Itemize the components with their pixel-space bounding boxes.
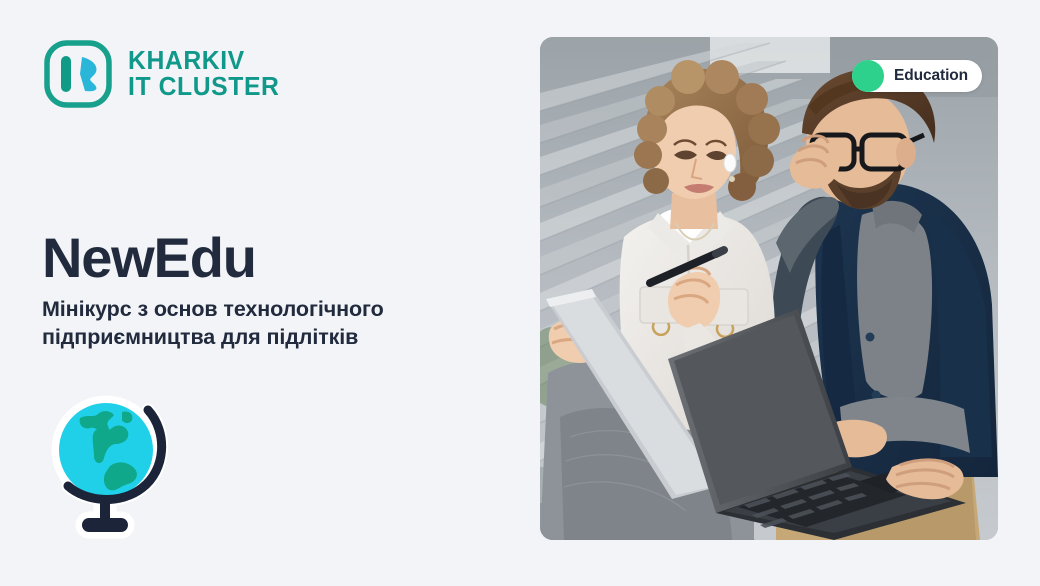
- brand-logo-wordmark: KHARKIV IT CLUSTER: [128, 48, 284, 100]
- slide-canvas: KHARKIV IT CLUSTER NewEdu Мінікурс з осн…: [0, 0, 1040, 586]
- badge-dot-icon: [852, 60, 884, 92]
- globe-sticker: [36, 388, 196, 543]
- brand-line-1: KHARKIV: [128, 48, 279, 74]
- page-title: NewEdu: [42, 228, 492, 288]
- page-subtitle-line-1: Мінікурс з основ технологічного: [42, 297, 384, 321]
- headline-block: NewEdu Мінікурс з основ технологічного п…: [42, 228, 492, 352]
- page-subtitle-line-2: підприємництва для підлітків: [42, 325, 358, 349]
- badge-label: Education: [894, 67, 968, 85]
- page-subtitle: Мінікурс з основ технологічного підприєм…: [42, 296, 442, 352]
- kharkiv-it-cluster-logo-mark-icon: [42, 38, 114, 110]
- status-badge[interactable]: Education: [852, 60, 982, 92]
- hero-photo: [540, 37, 998, 540]
- brand-logo[interactable]: KHARKIV IT CLUSTER: [42, 38, 284, 110]
- brand-line-2: IT CLUSTER: [128, 74, 279, 100]
